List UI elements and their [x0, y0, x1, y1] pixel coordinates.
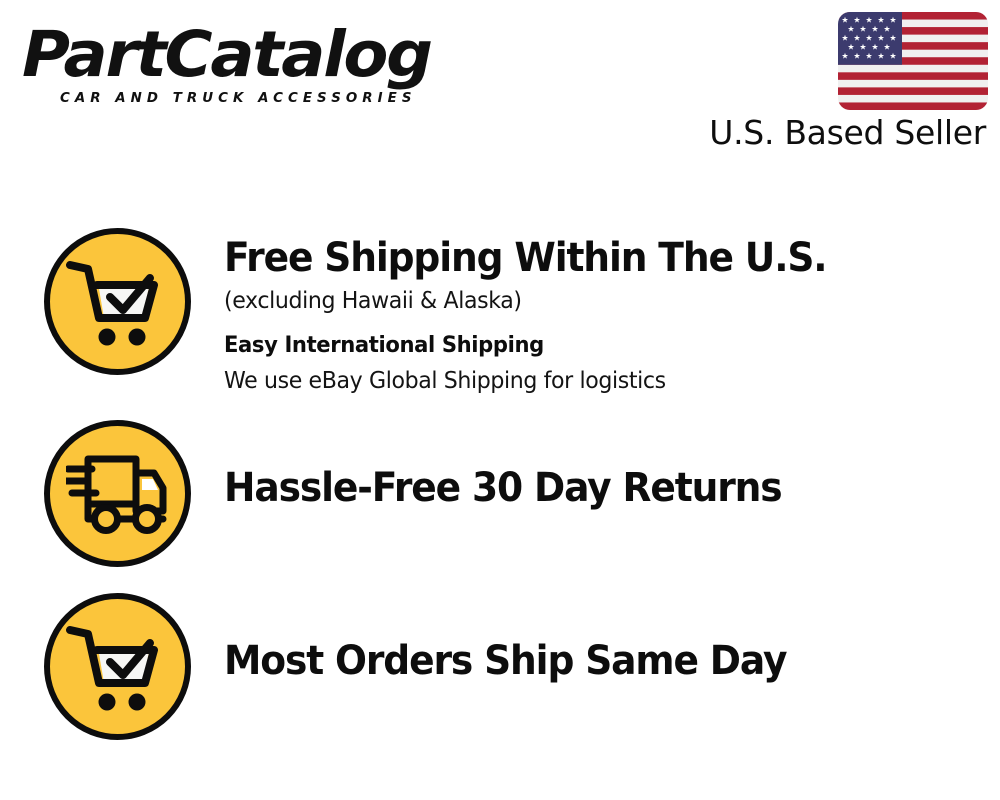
feature-subtitle-strong: Easy International Shipping — [224, 329, 969, 362]
feature-title: Free Shipping Within The U.S. — [224, 234, 953, 282]
shopping-cart-check-icon — [44, 593, 191, 740]
feature-row: Free Shipping Within The U.S. (excluding… — [0, 228, 1000, 398]
us-based-seller-label: U.S. Based Seller — [709, 113, 986, 153]
shopping-cart-check-icon — [44, 228, 191, 375]
feature-text-block: Free Shipping Within The U.S. (excluding… — [224, 228, 1000, 398]
delivery-truck-icon — [44, 420, 191, 567]
feature-title: Hassle-Free 30 Day Returns — [224, 464, 953, 512]
brand-wordmark: PartCatalog — [22, 22, 511, 88]
brand-logo: PartCatalog CAR AND TRUCK ACCESSORIES — [22, 22, 492, 106]
feature-row: Most Orders Ship Same Day — [0, 593, 1000, 740]
feature-subtitle-secondary: We use eBay Global Shipping for logistic… — [224, 364, 969, 398]
feature-subtitle: (excluding Hawaii & Alaska) — [224, 284, 969, 318]
us-flag-icon — [838, 12, 988, 110]
banner-header: PartCatalog CAR AND TRUCK ACCESSORIES — [0, 0, 1000, 175]
feature-row: Hassle-Free 30 Day Returns — [0, 420, 1000, 567]
brand-tagline: CAR AND TRUCK ACCESSORIES — [60, 90, 488, 106]
feature-text-block: Most Orders Ship Same Day — [224, 593, 1000, 685]
feature-title: Most Orders Ship Same Day — [224, 637, 953, 685]
feature-text-block: Hassle-Free 30 Day Returns — [224, 420, 1000, 512]
